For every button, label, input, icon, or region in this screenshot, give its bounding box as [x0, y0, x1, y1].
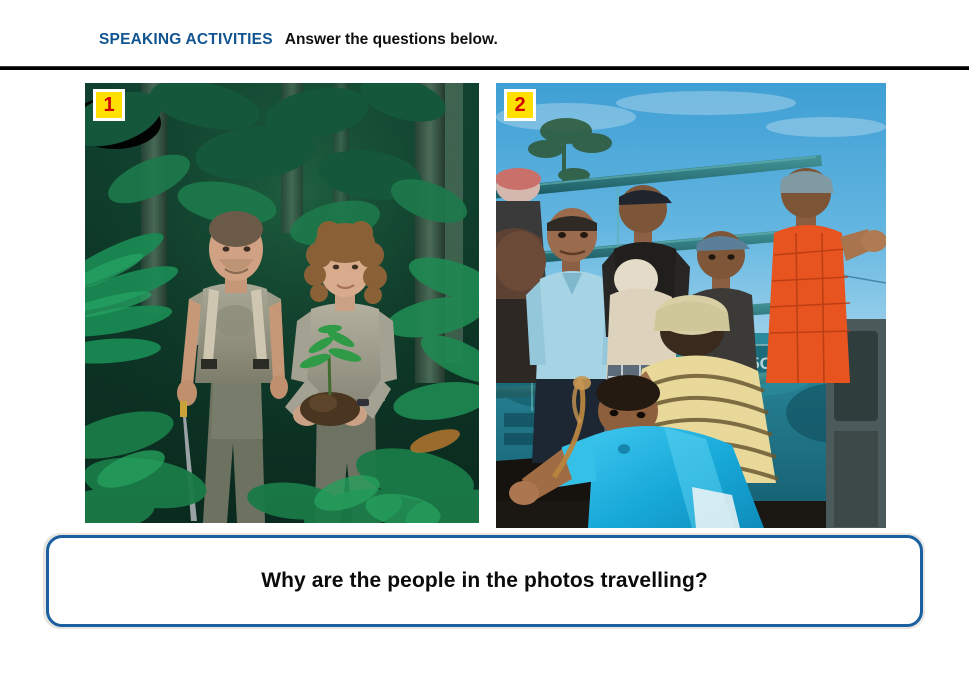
photo-1[interactable]: JUNGLE [85, 83, 479, 523]
photo-1-badge: 1 [93, 89, 125, 121]
question-box[interactable]: Why are the people in the photos travell… [46, 535, 923, 627]
photo-row: JUNGLE [0, 83, 969, 529]
photo-2[interactable]: 295C66 [496, 83, 886, 528]
question-text: Why are the people in the photos travell… [261, 569, 708, 593]
svg-text:JUNGLE: JUNGLE [213, 342, 258, 354]
photo-2-image: 295C66 [496, 83, 886, 528]
header-bar: SPEAKING ACTIVITIES Answer the questions… [0, 0, 969, 67]
photo-2-badge: 2 [504, 89, 536, 121]
header-text-group: SPEAKING ACTIVITIES Answer the questions… [99, 31, 498, 49]
header-divider [0, 66, 969, 70]
slide-root: SPEAKING ACTIVITIES Answer the questions… [0, 0, 969, 691]
photo-1-image: JUNGLE [85, 83, 479, 523]
section-instruction: Answer the questions below. [285, 31, 498, 49]
section-label: SPEAKING ACTIVITIES [99, 31, 273, 49]
